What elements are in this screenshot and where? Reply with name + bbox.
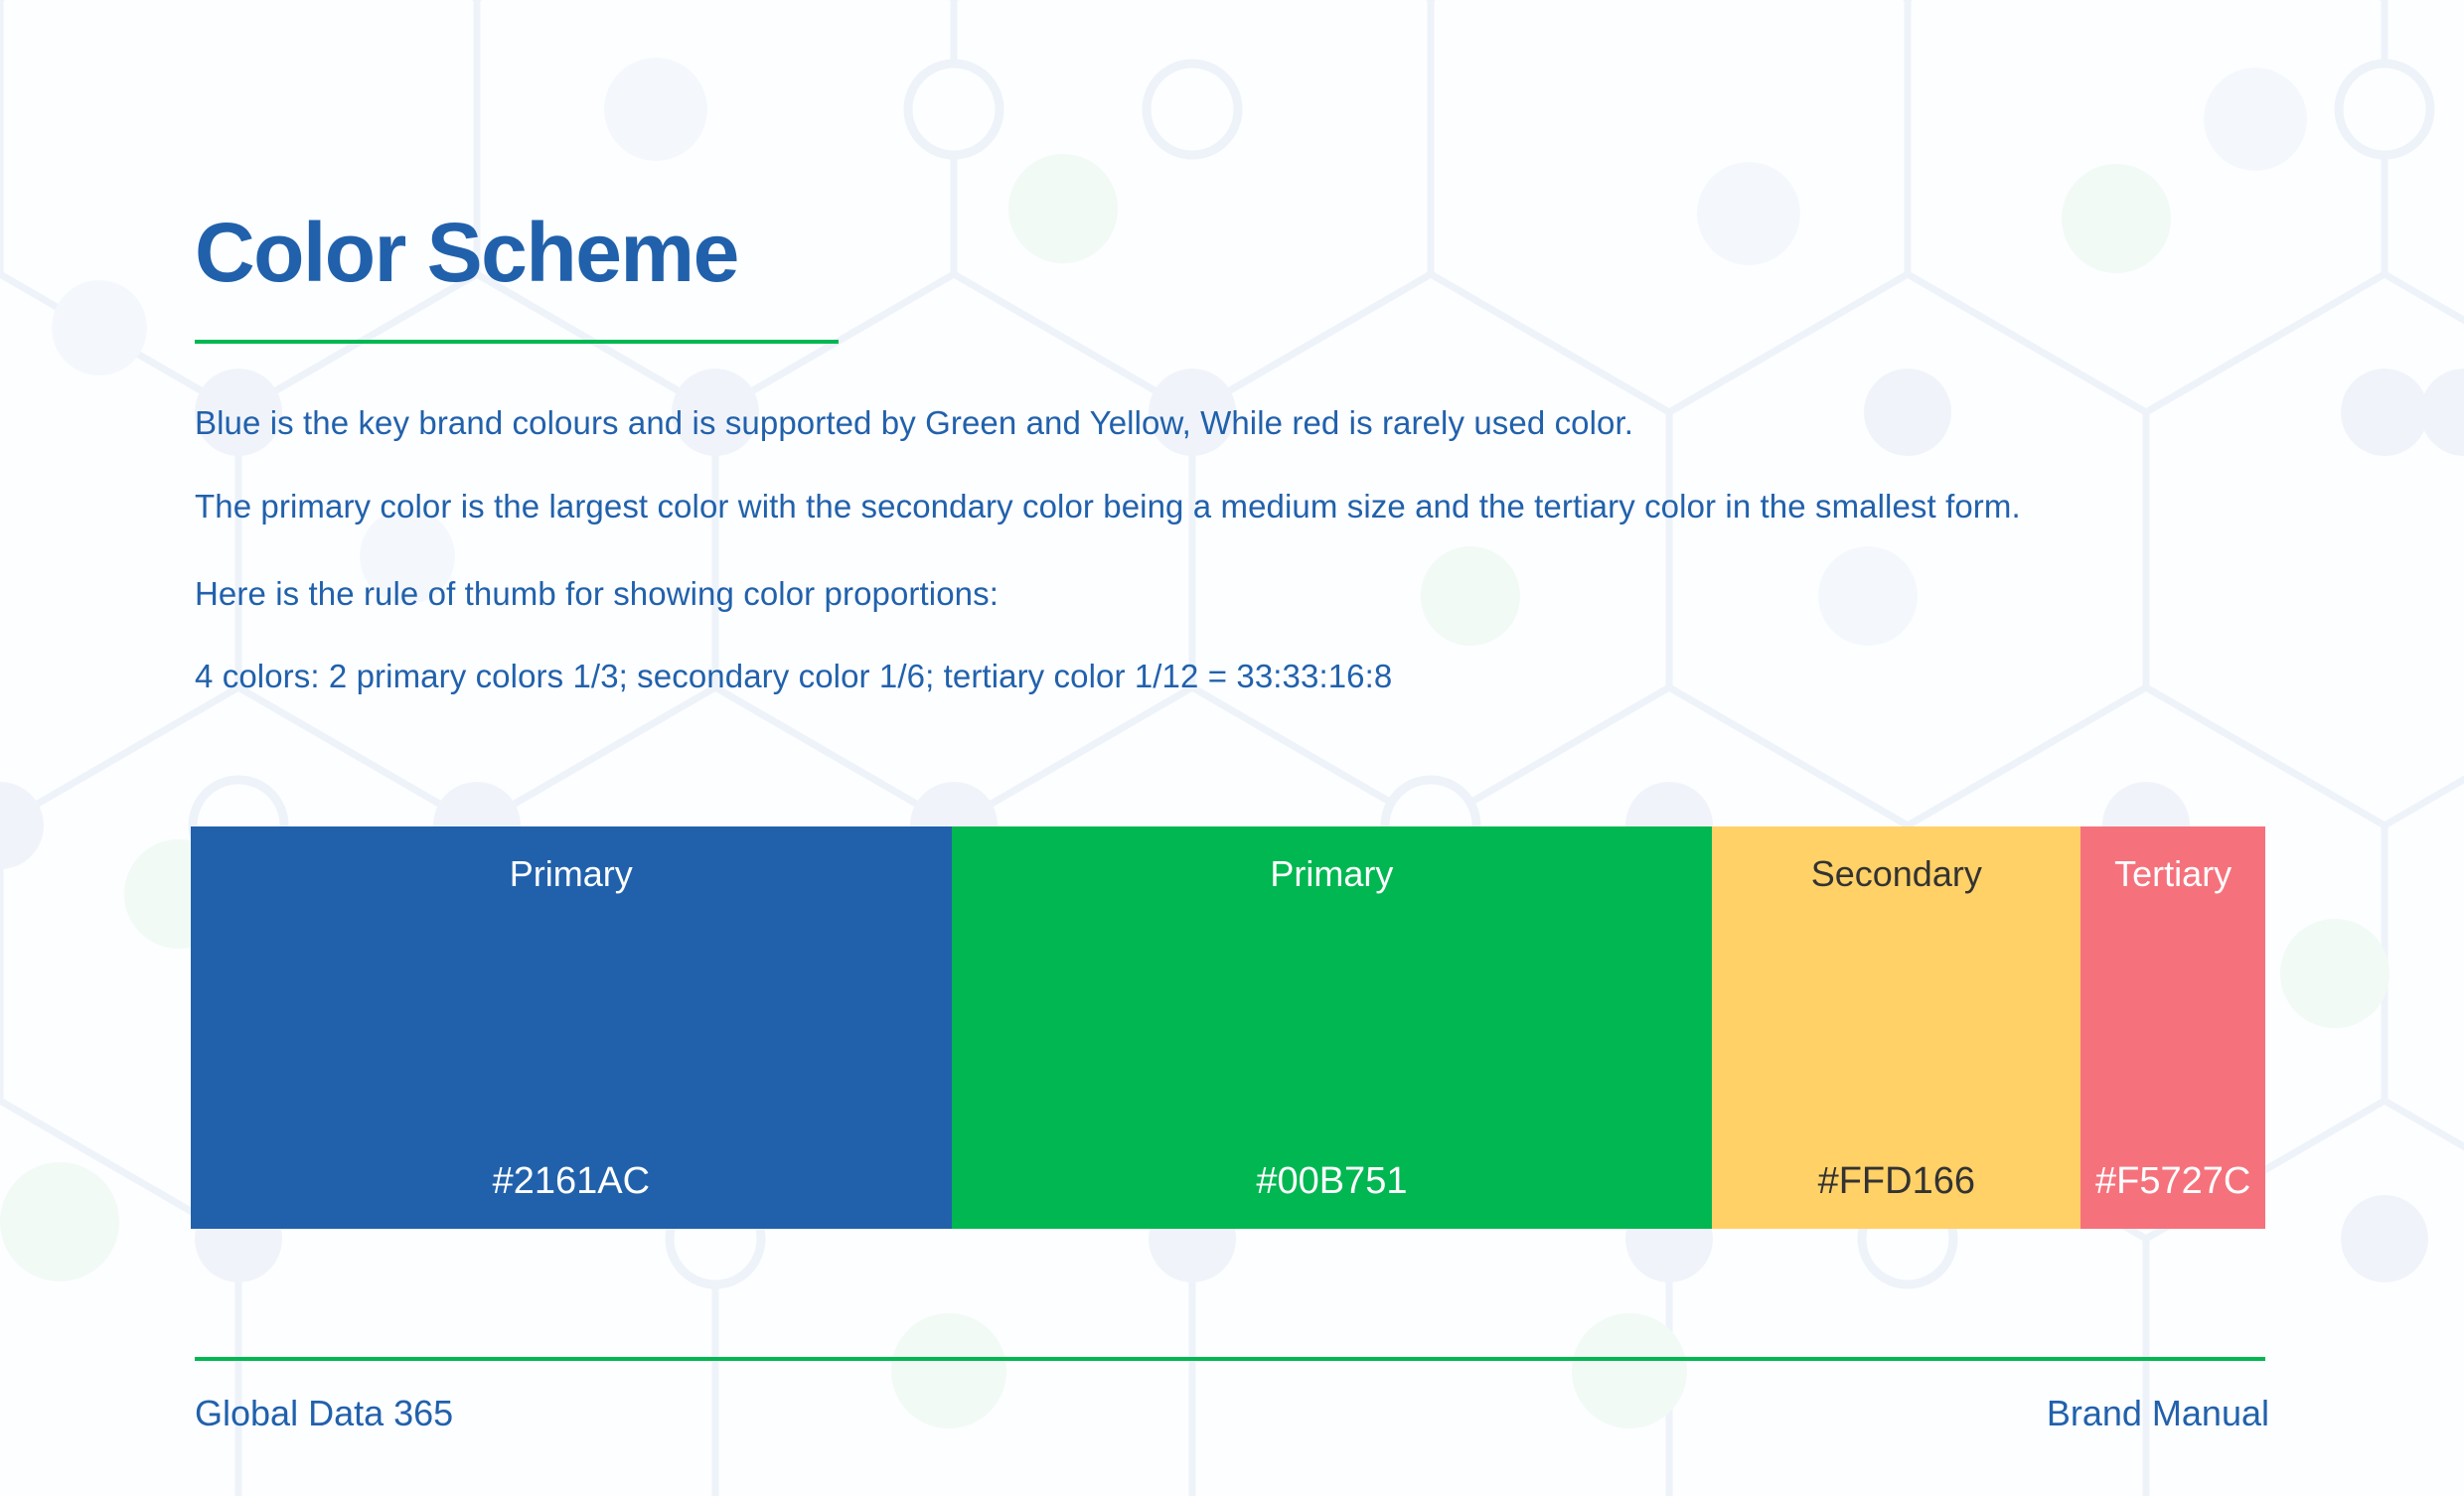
footer-document-name: Brand Manual (2047, 1393, 2269, 1434)
proportion-description-paragraph: The primary color is the largest color w… (195, 485, 2281, 527)
swatch-role-label: Secondary (1811, 854, 1982, 894)
page-title: Color Scheme (195, 211, 738, 294)
color-ratio-formula: 4 colors: 2 primary colors 1/3; secondar… (195, 655, 2182, 697)
swatch-secondary-yellow[interactable]: Secondary #FFD166 (1712, 826, 2080, 1229)
intro-paragraph: Blue is the key brand colours and is sup… (195, 401, 2311, 444)
swatch-role-label: Primary (1270, 854, 1393, 894)
color-swatch-bar: Primary #2161AC Primary #00B751 Secondar… (191, 826, 2265, 1229)
footer-divider-rule (195, 1357, 2265, 1361)
footer-company-name: Global Data 365 (195, 1393, 453, 1434)
swatch-role-label: Tertiary (2114, 854, 2232, 894)
swatch-hex-label: #F5727C (2095, 1161, 2250, 1203)
title-underline-rule (195, 340, 839, 344)
swatch-role-label: Primary (510, 854, 633, 894)
swatch-hex-label: #2161AC (493, 1161, 650, 1203)
swatch-hex-label: #FFD166 (1818, 1161, 1975, 1203)
swatch-tertiary-red[interactable]: Tertiary #F5727C (2080, 826, 2265, 1229)
swatch-primary-green[interactable]: Primary #00B751 (952, 826, 1713, 1229)
swatch-hex-label: #00B751 (1256, 1161, 1407, 1203)
rule-of-thumb-lead-in: Here is the rule of thumb for showing co… (195, 572, 2182, 615)
slide-canvas: Color Scheme Blue is the key brand colou… (0, 0, 2464, 1496)
swatch-primary-blue[interactable]: Primary #2161AC (191, 826, 952, 1229)
